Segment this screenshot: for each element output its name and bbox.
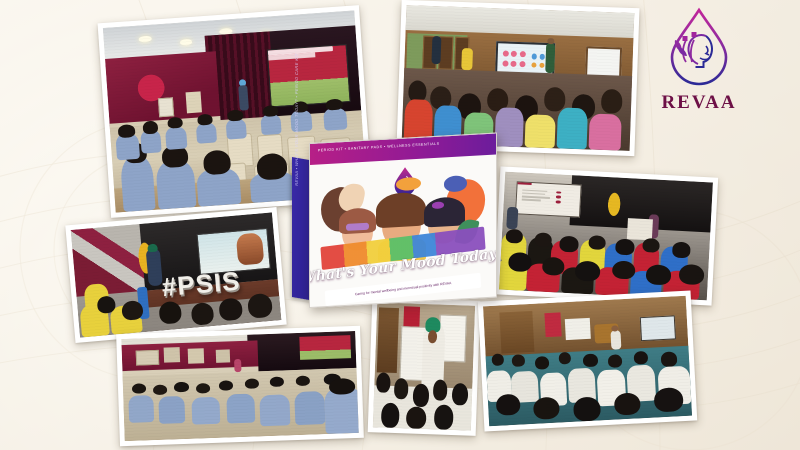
product-box: REVAA • WHAT'S YOUR MOOD TODAY? • PERIOD…	[292, 143, 497, 308]
water-drop-woman-face-logo	[660, 6, 738, 86]
revaa-brand-logo: REVAA	[641, 6, 757, 116]
box-side-text: REVAA • WHAT'S YOUR MOOD TODAY? • PERIOD…	[294, 75, 304, 187]
photo-turban-speaker	[368, 297, 481, 436]
brand-name: REVAA	[641, 92, 757, 114]
photo-psis-stage: #PSIS	[65, 207, 286, 343]
photo-white-uniform-hall	[478, 291, 698, 432]
photo-auditorium-blue	[116, 326, 364, 446]
box-front-face: PERIOD KIT • SANITARY PADS • WELLNESS ES…	[309, 132, 497, 308]
photo-sports-jerseys	[494, 166, 718, 305]
box-top-band-text: PERIOD KIT • SANITARY PADS • WELLNESS ES…	[318, 139, 488, 153]
collage-banner: #PSIS	[0, 0, 800, 450]
photo-classroom-kids	[396, 0, 639, 156]
